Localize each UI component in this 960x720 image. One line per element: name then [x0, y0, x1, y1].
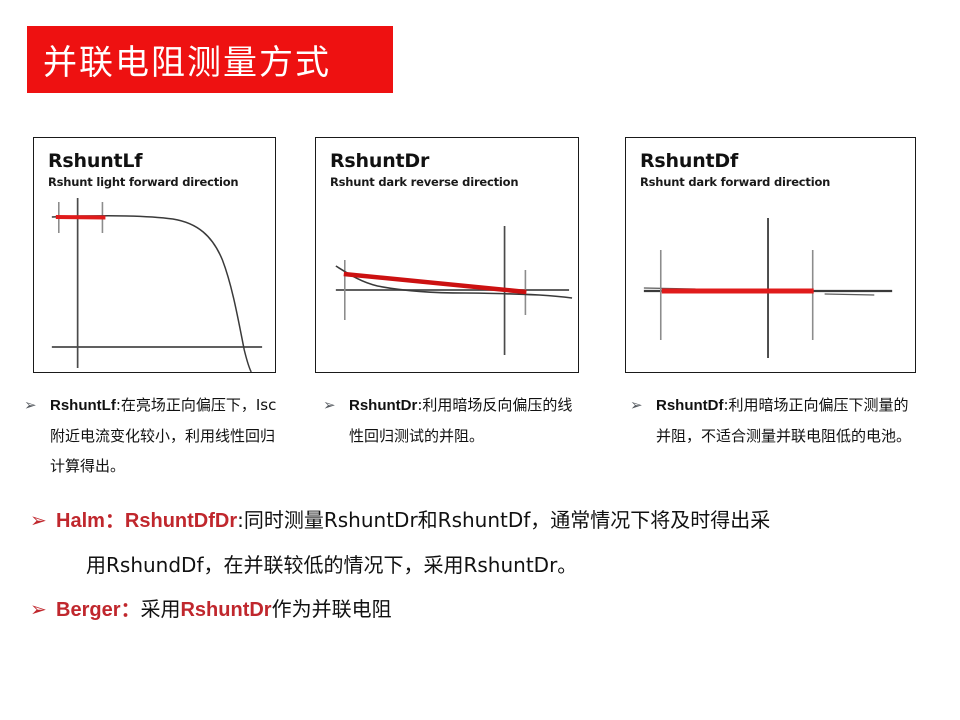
method-label-rshuntdfdr: RshuntDfDr — [125, 510, 237, 532]
chart-panel-rshuntdr: RshuntDr Rshunt dark reverse direction — [315, 137, 579, 373]
iv-curve-right-tail — [825, 294, 875, 295]
chart-title-rshuntlf: RshuntLf — [48, 150, 142, 172]
summary-berger-body: Berger：采用RshuntDr作为并联电阻 — [56, 587, 924, 632]
slide-title-banner: 并联电阻测量方式 — [27, 26, 393, 93]
chart-subtitle-rshuntdr: Rshunt dark reverse direction — [330, 175, 518, 189]
summary-berger-text-before: 采用 — [140, 597, 180, 621]
bullet-rshuntdr: ➢RshuntDr:利用暗场反向偏压的线性回归测试的并阻。 — [323, 390, 585, 451]
chart-title-rshuntdr: RshuntDr — [330, 150, 429, 172]
page-title: 并联电阻测量方式 — [27, 35, 331, 84]
bullet-arrow-icon: ➢ — [24, 390, 50, 420]
bullet-term: RshuntDr — [349, 397, 417, 414]
bullet-rshuntdf: ➢RshuntDf:利用暗场正向偏压下测量的并阻，不适合测量并联电阻低的电池。 — [630, 390, 916, 451]
chart-plot-rshuntdf — [626, 190, 915, 372]
chart-panel-rshuntdf: RshuntDf Rshunt dark forward direction — [625, 137, 916, 373]
summary-block: ➢Halm：RshuntDfDr:同时测量RshuntDr和RshuntDf，通… — [30, 498, 930, 632]
iv-curve-line — [336, 266, 572, 298]
bullet-arrow-icon: ➢ — [30, 498, 56, 542]
summary-berger-text-after: 作为并联电阻 — [272, 597, 392, 621]
summary-row-berger: ➢Berger：采用RshuntDr作为并联电阻 — [30, 587, 930, 632]
summary-row-halm: ➢Halm：RshuntDfDr:同时测量RshuntDr和RshuntDf，通… — [30, 498, 930, 587]
summary-halm-line1: :同时测量RshuntDr和RshuntDf，通常情况下将及时得出采 — [237, 508, 770, 532]
bullet-arrow-icon: ➢ — [30, 587, 56, 631]
bullet-arrow-icon: ➢ — [323, 390, 349, 420]
bullet-term: RshuntDf — [656, 397, 724, 414]
summary-halm-line2: 用RshundDf，在并联较低的情况下，采用RshuntDr。 — [56, 543, 924, 587]
bullet-body: RshuntLf:在亮场正向偏压下，Isc附近电流变化较小，利用线性回归计算得出… — [50, 390, 288, 481]
method-label-rshuntdr: RshuntDr — [180, 599, 271, 621]
bullet-body: RshuntDr:利用暗场反向偏压的线性回归测试的并阻。 — [349, 390, 581, 451]
bullet-arrow-icon: ➢ — [630, 390, 656, 420]
chart-panel-rshuntlf: RshuntLf Rshunt light forward direction — [33, 137, 276, 373]
bullet-term: RshuntLf — [50, 397, 116, 414]
vendor-label-berger: Berger： — [56, 599, 140, 621]
summary-halm-body: Halm：RshuntDfDr:同时测量RshuntDr和RshuntDf，通常… — [56, 498, 924, 587]
chart-subtitle-rshuntdf: Rshunt dark forward direction — [640, 175, 830, 189]
chart-plot-rshuntlf — [34, 190, 275, 372]
bullet-rshuntlf: ➢RshuntLf:在亮场正向偏压下，Isc附近电流变化较小，利用线性回归计算得… — [24, 390, 292, 481]
iv-curve-line — [52, 216, 251, 372]
vendor-label-halm: Halm： — [56, 510, 125, 532]
chart-subtitle-rshuntlf: Rshunt light forward direction — [48, 175, 238, 189]
bullet-body: RshuntDf:利用暗场正向偏压下测量的并阻，不适合测量并联电阻低的电池。 — [656, 390, 912, 451]
rshunt-fit-line — [56, 217, 106, 218]
chart-title-rshuntdf: RshuntDf — [640, 150, 738, 172]
chart-plot-rshuntdr — [316, 190, 578, 372]
